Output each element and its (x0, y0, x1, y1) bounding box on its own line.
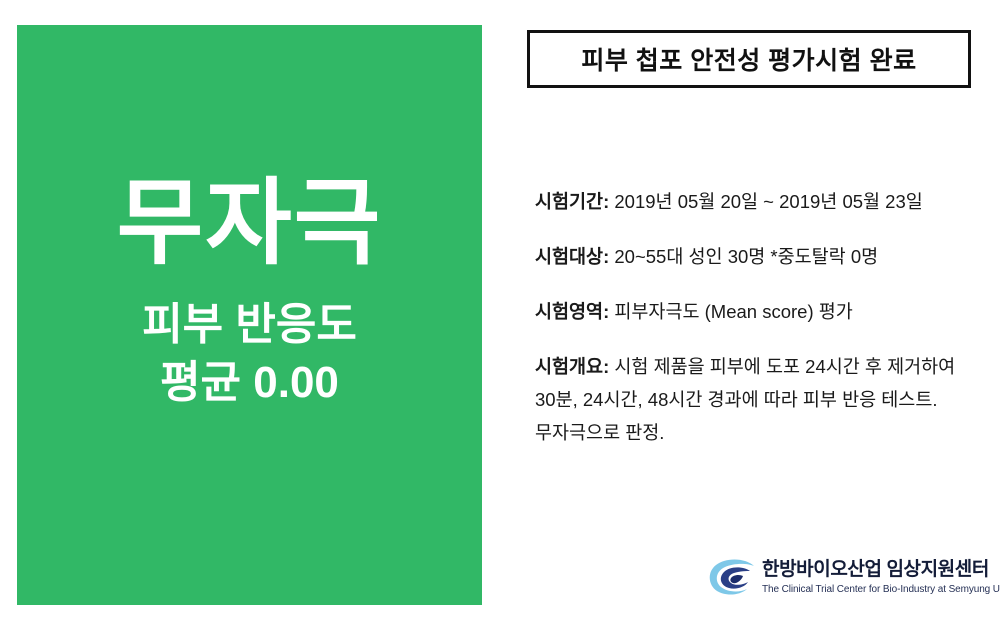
logo-title: 한방바이오산업 임상지원센터 (762, 560, 1000, 580)
detail-value-scope: 피부자극도 (Mean score) 평가 (609, 301, 853, 322)
logo-subtitle: The Clinical Trial Center for Bio-Indust… (762, 583, 1000, 596)
verdict-subtitle-line1: 피부 반응도 (142, 296, 357, 354)
detail-value-period: 2019년 05월 20일 ~ 2019년 05월 23일 (609, 191, 923, 212)
detail-label-summary: 시험개요: (535, 356, 609, 377)
result-panel: 무자극 피부 반응도 평균 0.00 (17, 25, 482, 605)
logo-text-block: 한방바이오산업 임상지원센터 The Clinical Trial Center… (762, 560, 1000, 596)
page-title: 피부 첩포 안전성 평가시험 완료 (581, 41, 916, 77)
detail-label-period: 시험기간: (535, 191, 609, 212)
detail-label-scope: 시험영역: (535, 301, 609, 322)
detail-row-summary: 시험개요: 시험 제품을 피부에 도포 24시간 후 제거하여 30분, 24시… (535, 351, 980, 450)
infographic-page: 무자극 피부 반응도 평균 0.00 피부 첩포 안전성 평가시험 완료 시험기… (0, 0, 1000, 625)
title-box: 피부 첩포 안전성 평가시험 완료 (527, 30, 971, 88)
details-list: 시험기간: 2019년 05월 20일 ~ 2019년 05월 23일 시험대상… (535, 186, 980, 450)
verdict-text: 무자극 (117, 176, 382, 270)
detail-label-subjects: 시험대상: (535, 246, 609, 267)
verdict-subtitle: 피부 반응도 평균 0.00 (142, 296, 357, 412)
detail-row-subjects: 시험대상: 20~55대 성인 30명 *중도탈락 0명 (535, 241, 980, 274)
swirl-wave-icon (708, 557, 756, 599)
detail-value-subjects: 20~55대 성인 30명 *중도탈락 0명 (609, 246, 878, 267)
organization-logo: 한방바이오산업 임상지원센터 The Clinical Trial Center… (708, 557, 1000, 599)
detail-row-scope: 시험영역: 피부자극도 (Mean score) 평가 (535, 296, 980, 329)
detail-row-period: 시험기간: 2019년 05월 20일 ~ 2019년 05월 23일 (535, 186, 980, 219)
verdict-subtitle-line2: 평균 0.00 (142, 354, 357, 412)
